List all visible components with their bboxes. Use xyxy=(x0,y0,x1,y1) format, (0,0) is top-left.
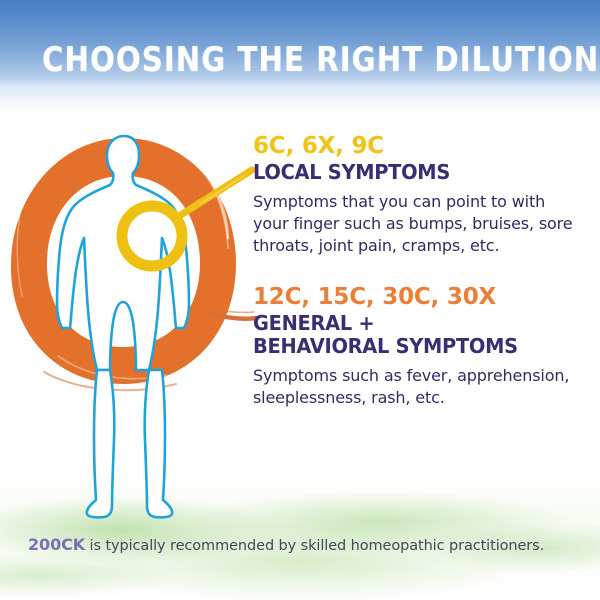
human-figure-outline xyxy=(57,136,189,517)
body-diagram xyxy=(0,118,270,528)
symptom-heading-general-line-2: BEHAVIORAL SYMPTOMS xyxy=(253,335,583,358)
footer-dilution-strong: 200CK xyxy=(28,535,85,554)
sky-cloud-wisp xyxy=(0,92,600,110)
page-title: CHOOSING THE RIGHT DILUTION xyxy=(42,40,558,80)
dilution-label-general: 12C, 15C, 30C, 30X xyxy=(253,283,593,311)
symptom-heading-general-line-1: GENERAL + xyxy=(253,312,583,335)
symptom-heading-local: LOCAL SYMPTOMS xyxy=(253,161,583,184)
symptom-body-local: Symptoms that you can point to with your… xyxy=(253,191,575,257)
section-local-symptoms: 6C, 6X, 9C LOCAL SYMPTOMS Symptoms that … xyxy=(253,132,593,257)
infographic-canvas: CHOOSING THE RIGHT DILUTION xyxy=(0,0,600,600)
dilution-sections: 6C, 6X, 9C LOCAL SYMPTOMS Symptoms that … xyxy=(253,132,593,417)
footer-note-text: is typically recommended by skilled home… xyxy=(85,538,544,554)
symptom-body-general: Symptoms such as fever, apprehension, sl… xyxy=(253,365,575,409)
section-general-behavioral-symptoms: 12C, 15C, 30C, 30X GENERAL + BEHAVIORAL … xyxy=(253,283,593,409)
footer-note: 200CK is typically recommended by skille… xyxy=(28,535,588,556)
dilution-label-local: 6C, 6X, 9C xyxy=(253,132,593,160)
